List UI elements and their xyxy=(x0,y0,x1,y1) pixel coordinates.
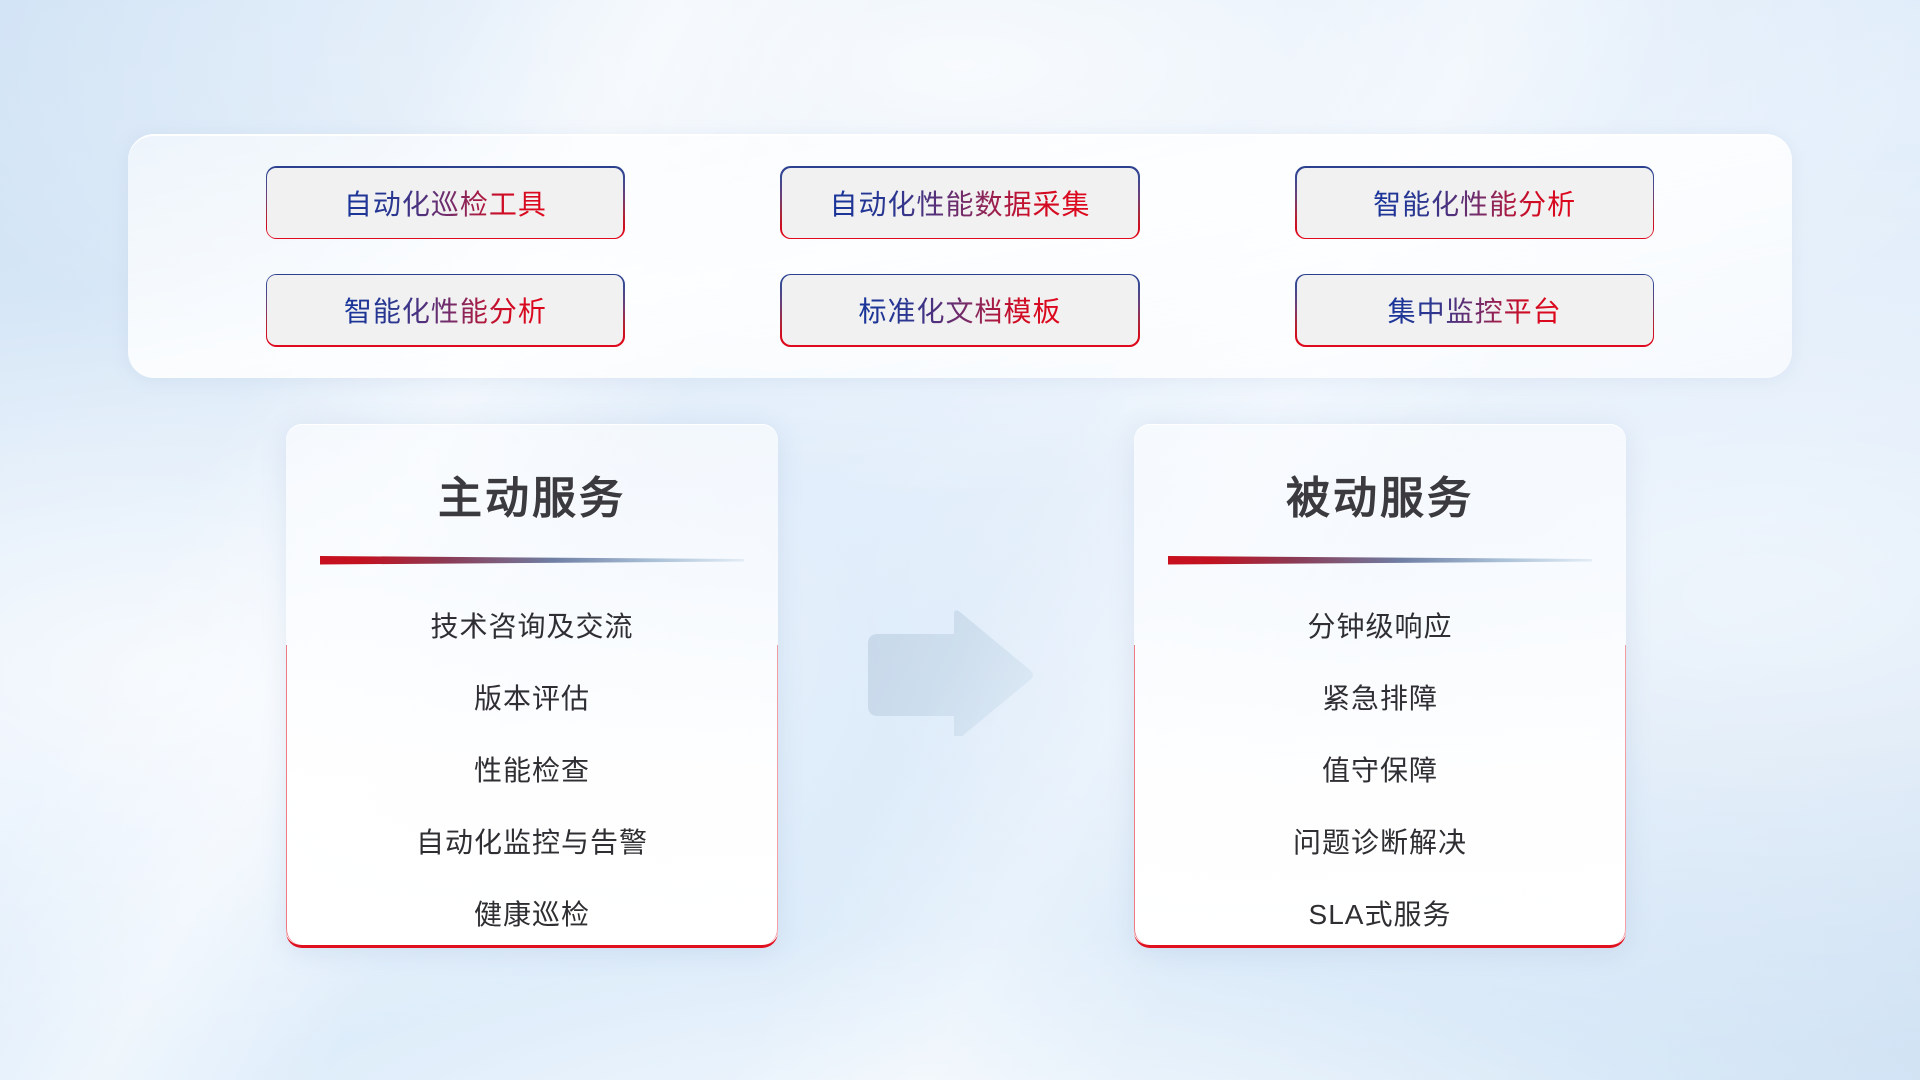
capability-chip-label: 自动化巡检工具 xyxy=(344,183,547,223)
card-divider xyxy=(320,554,744,565)
card-title: 被动服务 xyxy=(1134,462,1626,526)
card-item: 分钟级响应 xyxy=(1307,601,1452,653)
arrow-right-icon xyxy=(862,608,1034,736)
card-item: 自动化监控与告警 xyxy=(416,817,648,869)
capability-chip-label: 自动化性能数据采集 xyxy=(829,183,1090,223)
card-title: 主动服务 xyxy=(286,462,778,526)
capability-chip-1[interactable]: 自动化巡检工具 xyxy=(267,168,623,238)
card-item: 值守保障 xyxy=(1322,745,1438,797)
service-card-reactive: 被动服务 分钟级响应 紧急排障 值守保障 xyxy=(1134,424,1626,948)
capability-chip-label: 智能化性能分析 xyxy=(1373,183,1576,223)
capability-chip-label: 智能化性能分析 xyxy=(344,290,547,330)
card-item: 紧急排障 xyxy=(1322,673,1438,725)
service-card-proactive: 主动服务 技术咨询及交流 版本评估 性能检查 xyxy=(286,424,778,948)
card-item-list: 技术咨询及交流 版本评估 性能检查 自动化监控与告警 健康巡检 xyxy=(286,601,778,941)
capability-chip-5[interactable]: 标准化文档模板 xyxy=(782,275,1138,345)
card-item: 技术咨询及交流 xyxy=(430,601,633,653)
card-item: SLA式服务 xyxy=(1309,889,1452,941)
card-item: 版本评估 xyxy=(474,673,590,725)
capability-chip-6[interactable]: 集中监控平台 xyxy=(1297,275,1653,345)
capability-chip-label: 集中监控平台 xyxy=(1388,290,1562,330)
capability-chip-2[interactable]: 自动化性能数据采集 xyxy=(782,168,1138,238)
capability-panel: 自动化巡检工具 自动化性能数据采集 智能化性能分析 智能化性能分析 标准化文档模… xyxy=(128,134,1792,378)
card-divider xyxy=(1168,554,1592,565)
card-item: 性能检查 xyxy=(474,745,590,797)
capability-chip-label: 标准化文档模板 xyxy=(858,290,1061,330)
card-item: 问题诊断解决 xyxy=(1293,817,1467,869)
card-item: 健康巡检 xyxy=(474,889,590,941)
capability-chip-3[interactable]: 智能化性能分析 xyxy=(1297,168,1653,238)
capability-chip-4[interactable]: 智能化性能分析 xyxy=(267,275,623,345)
page-background: 自动化巡检工具 自动化性能数据采集 智能化性能分析 智能化性能分析 标准化文档模… xyxy=(0,0,1920,1080)
card-item-list: 分钟级响应 紧急排障 值守保障 问题诊断解决 SLA式服务 xyxy=(1134,601,1626,941)
